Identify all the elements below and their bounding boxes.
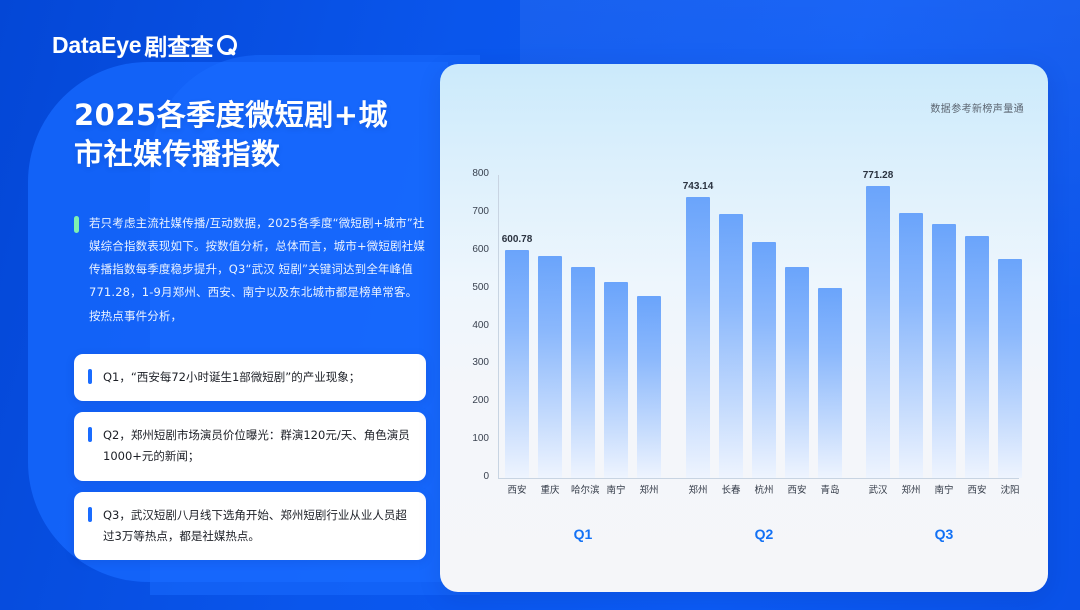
x-axis-tick-label: 西安 [965, 482, 989, 496]
bar-groups: 600.78743.14771.28 [499, 175, 1018, 478]
chart-source-note: 数据参考新榜声量通 [930, 100, 1024, 115]
group-spacer [667, 526, 681, 544]
x-axis-tick-label: 沈阳 [998, 482, 1022, 496]
magnifier-circle-icon [217, 35, 237, 55]
x-axis-tick-label: 重庆 [538, 482, 562, 496]
y-axis-tick-label: 400 [472, 320, 489, 331]
bar[interactable] [932, 224, 956, 478]
quarter-label-q2: Q2 [755, 526, 774, 542]
bar-column[interactable] [998, 175, 1022, 478]
x-axis-tick-label: 郑州 [686, 482, 710, 496]
y-axis-tick-label: 100 [472, 433, 489, 444]
bar[interactable] [998, 259, 1022, 478]
group-spacer [847, 526, 861, 544]
y-axis-tick-label: 500 [472, 282, 489, 293]
bar-column[interactable] [752, 175, 776, 478]
bar-column[interactable] [538, 175, 562, 478]
bar[interactable] [505, 250, 529, 478]
y-axis-tick-label: 200 [472, 395, 489, 406]
y-axis-tick-label: 300 [472, 357, 489, 368]
chart-panel: 数据参考新榜声量通 8007006005004003002001000 600.… [440, 64, 1048, 592]
bar-column[interactable] [571, 175, 595, 478]
x-label-group-q3: 武汉郑州南宁西安沈阳 [861, 482, 1027, 496]
x-axis-tick-label: 南宁 [932, 482, 956, 496]
x-label-group-q2: 郑州长春杭州西安青岛 [681, 482, 847, 496]
x-axis-tick-label: 西安 [785, 482, 809, 496]
x-label-group-q1: 西安重庆哈尔滨南宁郑州 [499, 482, 667, 496]
brand-name-en: DataEye [52, 32, 141, 59]
x-axis-tick-label: 长春 [719, 482, 743, 496]
bar[interactable] [604, 282, 628, 478]
bar-column[interactable] [818, 175, 842, 478]
x-axis-labels: 西安重庆哈尔滨南宁郑州郑州长春杭州西安青岛武汉郑州南宁西安沈阳 [499, 482, 1019, 502]
bar[interactable] [538, 256, 562, 478]
accent-bar-icon [74, 216, 79, 233]
list-item[interactable]: Q2，郑州短剧市场演员价位曝光：群演120元/天、角色演员1000+元的新闻； [74, 412, 426, 481]
brand-name-cn: 剧查查 [144, 28, 213, 62]
bar[interactable] [719, 214, 743, 478]
list-item[interactable]: Q1，“西安每72小时诞生1部微短剧”的产业现象； [74, 354, 426, 401]
bar-group-q3: 771.28 [861, 175, 1027, 478]
page-title: 2025各季度微短剧+城 市社媒传播指数 [74, 96, 426, 174]
brand-logo: DataEye 剧查查 [52, 28, 237, 62]
list-item[interactable]: Q3，武汉短剧八月线下选角开始、郑州短剧行业从业人员超过3万等热点，都是社媒热点… [74, 492, 426, 561]
chart-plot-area: 8007006005004003002001000 600.78743.1477… [498, 175, 1018, 478]
bar-column[interactable]: 600.78 [505, 175, 529, 478]
bar[interactable] [686, 197, 710, 478]
bar-column[interactable] [719, 175, 743, 478]
x-axis-tick-label: 郑州 [899, 482, 923, 496]
accent-bar-icon [88, 507, 92, 522]
bar-column[interactable]: 771.28 [866, 175, 890, 478]
bar-group-q1: 600.78 [499, 175, 667, 478]
y-axis-tick-label: 700 [472, 206, 489, 217]
quarter-label-q3: Q3 [935, 526, 954, 542]
bar-column[interactable] [965, 175, 989, 478]
list-item-text: Q3，武汉短剧八月线下选角开始、郑州短剧行业从业人员超过3万等热点，都是社媒热点… [103, 505, 410, 548]
bar[interactable] [965, 236, 989, 478]
bar-column[interactable] [932, 175, 956, 478]
x-axis-line [498, 478, 1019, 479]
bar-column[interactable] [785, 175, 809, 478]
accent-bar-icon [88, 369, 92, 384]
x-axis-tick-label: 郑州 [637, 482, 661, 496]
bar-group-q2: 743.14 [681, 175, 847, 478]
x-axis-tick-label: 南宁 [604, 482, 628, 496]
x-axis-tick-label: 武汉 [866, 482, 890, 496]
bar[interactable] [866, 186, 890, 478]
x-axis-tick-label: 哈尔滨 [571, 482, 595, 496]
x-axis-tick-label: 杭州 [752, 482, 776, 496]
bar-value-label: 771.28 [863, 170, 894, 181]
accent-bar-icon [88, 427, 92, 442]
bar-column[interactable] [899, 175, 923, 478]
bar-value-label: 743.14 [683, 181, 714, 192]
left-column: 2025各季度微短剧+城 市社媒传播指数 若只考虑主流社媒传播/互动数据，202… [74, 96, 426, 560]
y-axis-tick-label: 0 [483, 471, 489, 482]
quarter-label-group: Q2 [681, 526, 847, 544]
bar-column[interactable] [604, 175, 628, 478]
bar[interactable] [899, 213, 923, 478]
quarter-label-group: Q1 [499, 526, 667, 544]
list-item-text: Q2，郑州短剧市场演员价位曝光：群演120元/天、角色演员1000+元的新闻； [103, 425, 410, 468]
bar[interactable] [818, 288, 842, 478]
highlight-card-list: Q1，“西安每72小时诞生1部微短剧”的产业现象； Q2，郑州短剧市场演员价位曝… [74, 354, 426, 560]
x-axis-tick-label: 西安 [505, 482, 529, 496]
list-item-text: Q1，“西安每72小时诞生1部微短剧”的产业现象； [103, 367, 360, 388]
intro-block: 若只考虑主流社媒传播/互动数据，2025各季度“微短剧+城市”社媒综合指数表现如… [74, 212, 426, 328]
quarter-label-group: Q3 [861, 526, 1027, 544]
bar-column[interactable]: 743.14 [686, 175, 710, 478]
bar-column[interactable] [637, 175, 661, 478]
quarter-label-q1: Q1 [574, 526, 593, 542]
y-axis-tick-label: 800 [472, 168, 489, 179]
y-axis-tick-label: 600 [472, 244, 489, 255]
bar[interactable] [785, 267, 809, 478]
bar-value-label: 600.78 [502, 234, 533, 245]
x-axis-tick-label: 青岛 [818, 482, 842, 496]
quarter-axis-labels: Q1Q2Q3 [499, 526, 1019, 544]
bar[interactable] [571, 267, 595, 478]
intro-text: 若只考虑主流社媒传播/互动数据，2025各季度“微短剧+城市”社媒综合指数表现如… [89, 212, 426, 328]
bar[interactable] [752, 242, 776, 478]
bar[interactable] [637, 296, 661, 478]
